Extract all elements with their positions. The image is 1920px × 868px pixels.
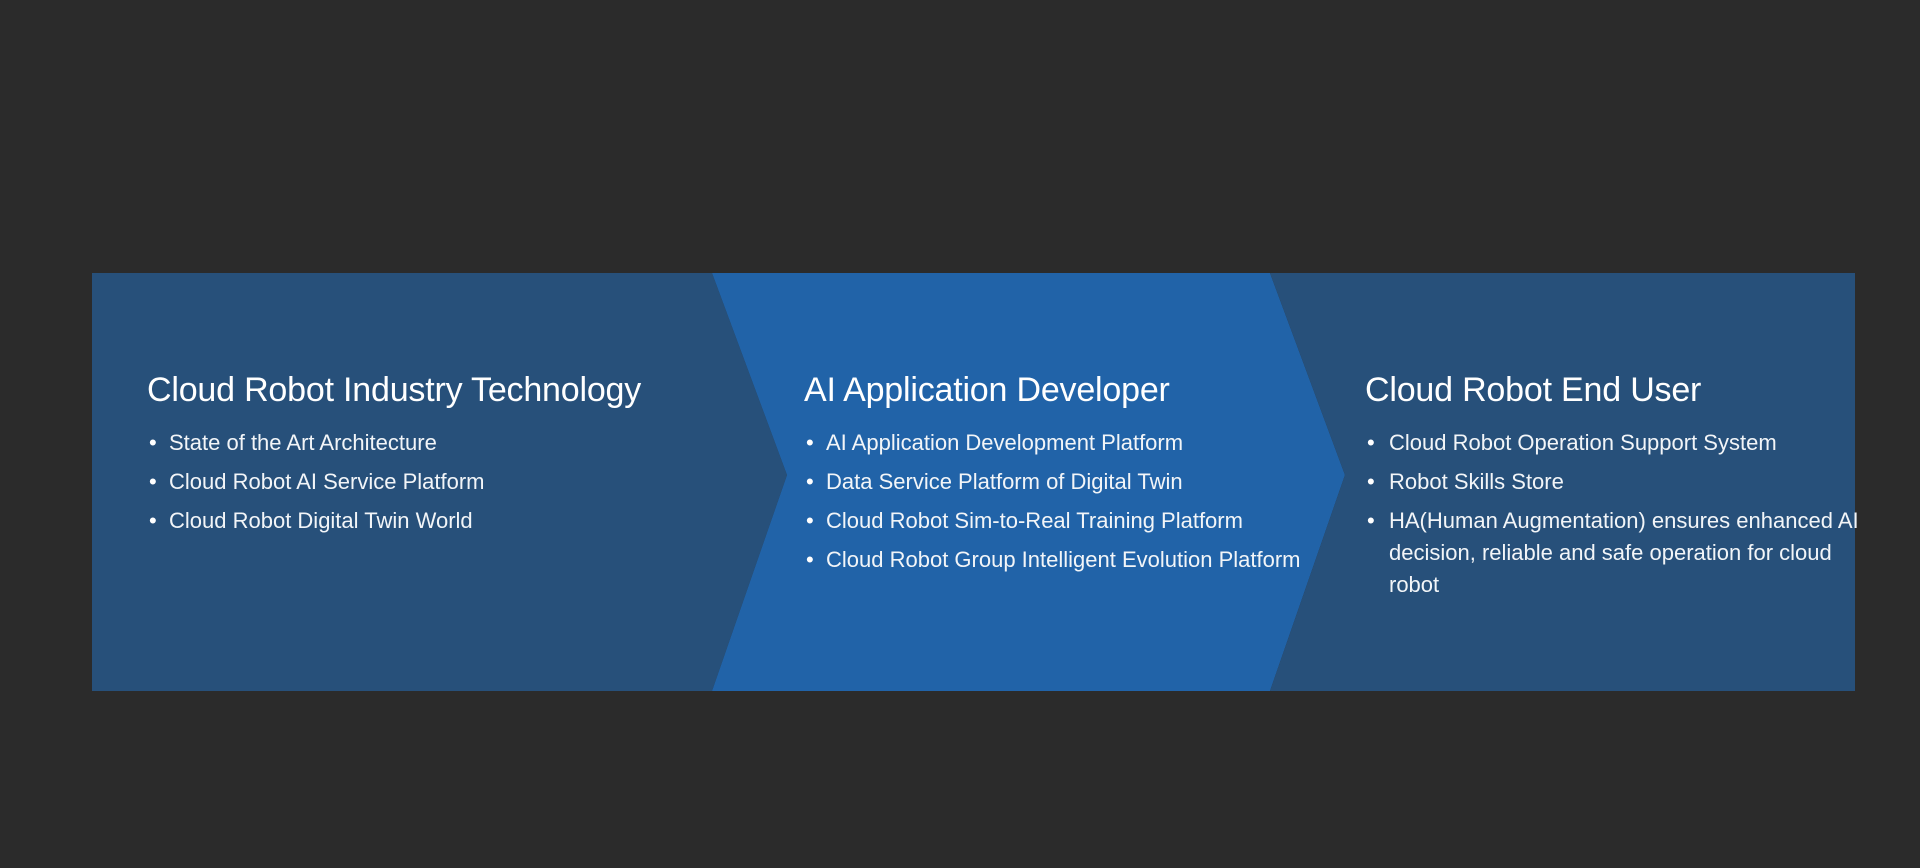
list-item: • Robot Skills Store [1365,466,1865,498]
segment-bullet-list: • AI Application Development Platform • … [804,427,1300,583]
list-item: • HA(Human Augmentation) ensures enhance… [1365,505,1865,601]
list-item-label: HA(Human Augmentation) ensures enhanced … [1389,508,1859,597]
bullet-icon: • [806,466,814,498]
bullet-icon: • [149,427,157,459]
bullet-icon: • [1367,466,1375,498]
list-item-label: Cloud Robot Sim-to-Real Training Platfor… [826,508,1243,533]
bullet-icon: • [806,505,814,537]
list-item: • Cloud Robot AI Service Platform [147,466,484,498]
bullet-icon: • [806,427,814,459]
bullet-icon: • [1367,427,1375,459]
list-item: • Data Service Platform of Digital Twin [804,466,1300,498]
list-item: • Cloud Robot Digital Twin World [147,505,484,537]
slide-canvas: Cloud Robot Industry Technology • State … [0,0,1920,868]
list-item-label: Cloud Robot Operation Support System [1389,430,1777,455]
bullet-icon: • [149,466,157,498]
segment-bullet-list: • State of the Art Architecture • Cloud … [147,427,484,544]
bullet-icon: • [149,505,157,537]
list-item-label: State of the Art Architecture [169,430,437,455]
bullet-icon: • [1367,505,1375,537]
chevron-text-layer: Cloud Robot Industry Technology • State … [92,273,1855,691]
list-item-label: Cloud Robot Group Intelligent Evolution … [826,547,1300,572]
chevron-band: Cloud Robot Industry Technology • State … [92,273,1855,691]
list-item-label: AI Application Development Platform [826,430,1183,455]
segment-title: Cloud Robot Industry Technology [147,373,641,407]
segment-title: Cloud Robot End User [1365,373,1701,407]
list-item: • Cloud Robot Sim-to-Real Training Platf… [804,505,1300,537]
list-item-label: Cloud Robot AI Service Platform [169,469,484,494]
list-item: • Cloud Robot Group Intelligent Evolutio… [804,544,1300,576]
list-item: • Cloud Robot Operation Support System [1365,427,1865,459]
list-item: • AI Application Development Platform [804,427,1300,459]
list-item-label: Cloud Robot Digital Twin World [169,508,473,533]
list-item-label: Robot Skills Store [1389,469,1564,494]
list-item-label: Data Service Platform of Digital Twin [826,469,1183,494]
list-item: • State of the Art Architecture [147,427,484,459]
segment-bullet-list: • Cloud Robot Operation Support System •… [1365,427,1865,608]
segment-title: AI Application Developer [804,373,1170,407]
bullet-icon: • [806,544,814,576]
